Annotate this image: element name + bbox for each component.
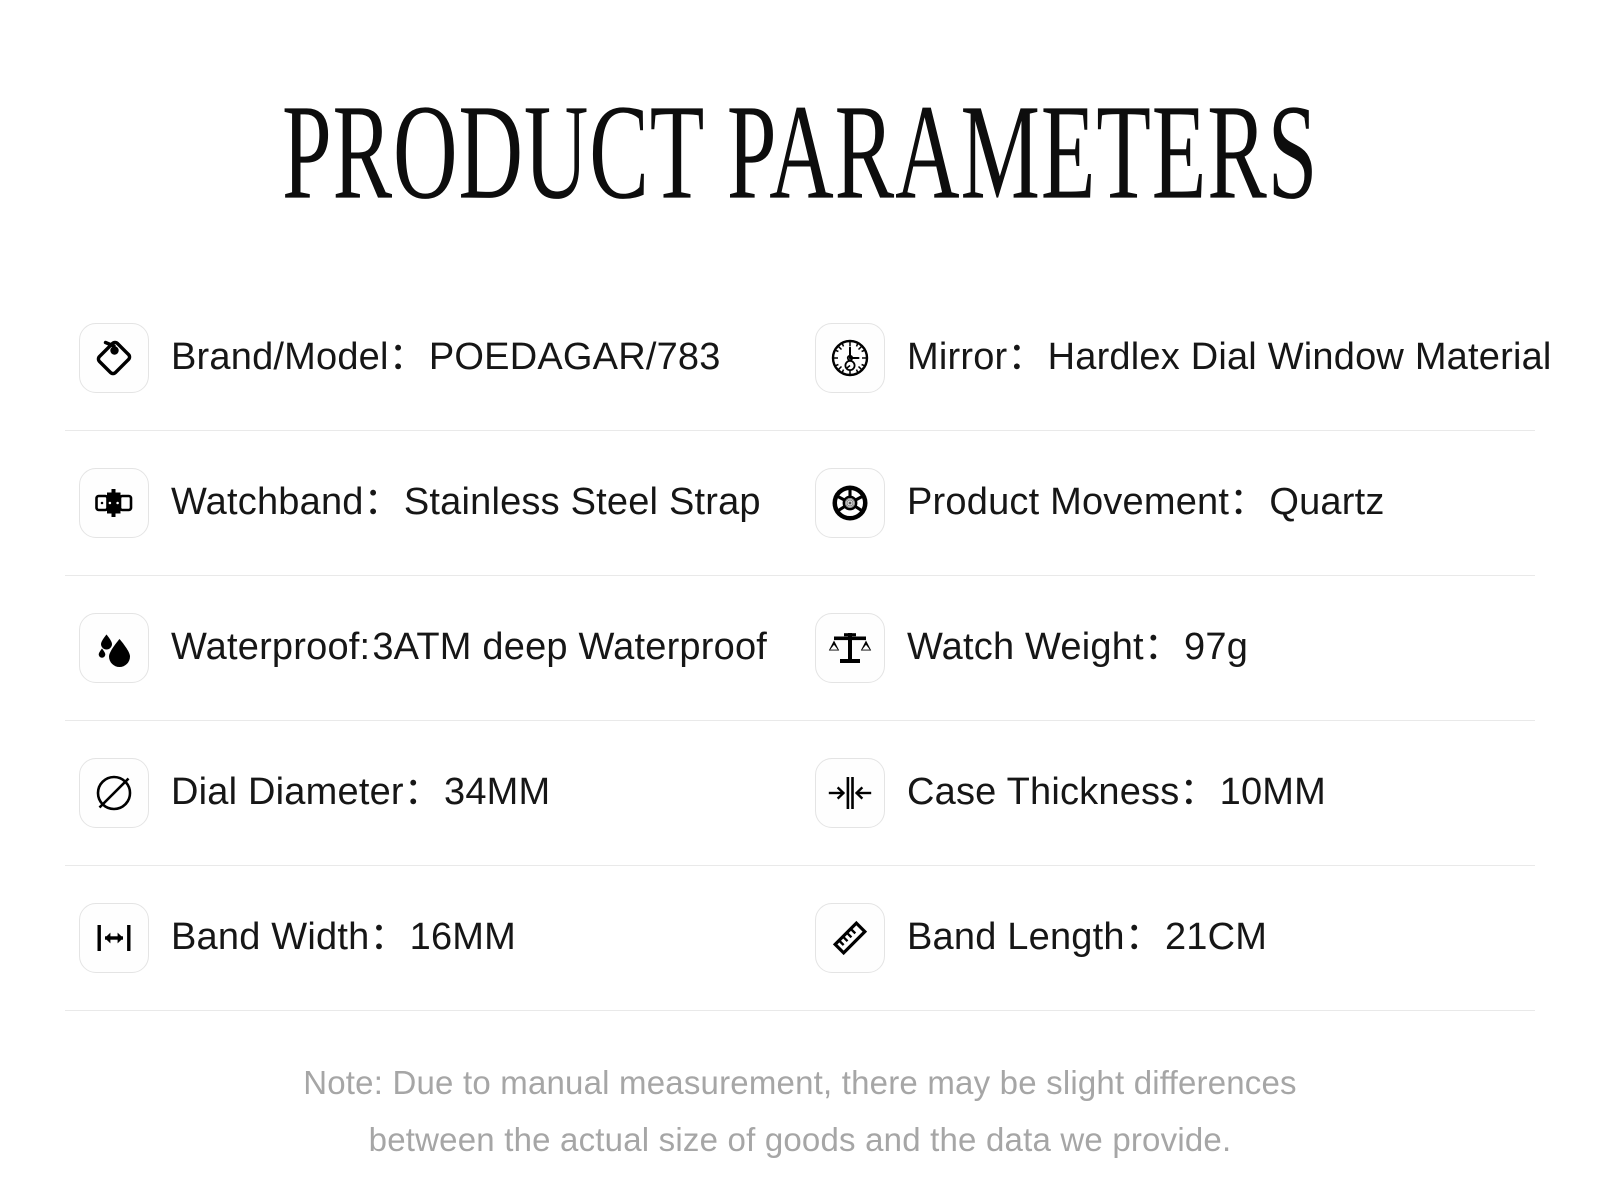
spec-item-dial-diameter: Dial Diameter：34MM [65,721,805,865]
spec-label: Band Length： [907,916,1163,958]
spec-value: Stainless Steel Strap [404,481,761,523]
spec-label: Product Movement： [907,481,1267,523]
table-row: Waterproof:3ATM deep Waterproof W [65,576,1535,721]
spec-label-value: Product Movement：Quartz [907,481,1385,525]
spec-value: Hardlex Dial Window Material [1048,336,1552,378]
watch-dial-clock-icon [815,323,885,393]
spec-label: Watch Weight： [907,626,1182,668]
spec-label-value: Band Width：16MM [171,916,516,960]
table-row: Brand/Model：POEDAGAR/783 [65,286,1535,431]
spec-value: 10MM [1220,771,1326,813]
spec-label-value: Brand/Model：POEDAGAR/783 [171,336,721,380]
spec-label-value: Mirror：Hardlex Dial Window Material [907,336,1552,380]
spec-item-band-width: Band Width：16MM [65,866,805,1010]
spec-value: 97g [1184,626,1248,668]
page-title: PRODUCT PARAMETERS [282,84,1318,220]
price-tag-icon [79,323,149,393]
specifications-table: Brand/Model：POEDAGAR/783 [65,180,1535,1011]
spec-value: Quartz [1269,481,1384,523]
spec-label-value: Watch Weight：97g [907,626,1248,670]
measurement-note: Note: Due to manual measurement, there m… [200,1011,1400,1169]
table-row: Band Width：16MM [65,866,1535,1011]
spec-value: POEDAGAR/783 [429,336,721,378]
spec-item-movement: Product Movement：Quartz [805,431,1535,575]
product-parameters-page: PRODUCT PARAMETERS Brand/Model：POEDAGAR/… [0,0,1600,1200]
spec-value: 34MM [444,771,550,813]
spec-label: Watchband： [171,481,402,523]
spec-label-value: Case Thickness：10MM [907,771,1326,815]
water-drops-icon [79,613,149,683]
table-row: Dial Diameter：34MM Case Th [65,721,1535,866]
spec-value: 16MM [410,916,516,958]
spec-value: 3ATM deep Waterproof [372,626,767,668]
spec-item-case-thickness: Case Thickness：10MM [805,721,1535,865]
spec-label-value: Dial Diameter：34MM [171,771,550,815]
spec-item-watchband: Watchband：Stainless Steel Strap [65,431,805,575]
spec-label-value: Band Length：21CM [907,916,1267,960]
balance-scale-icon [815,613,885,683]
spec-label: Waterproof: [171,626,370,668]
note-line-2: between the actual size of goods and the… [200,1112,1400,1169]
spec-label-value: Watchband：Stainless Steel Strap [171,481,761,525]
spec-item-watch-weight: Watch Weight：97g [805,576,1535,720]
spec-value: 21CM [1165,916,1267,958]
gear-movement-icon [815,468,885,538]
diameter-symbol-icon [79,758,149,828]
watchband-buckle-icon [79,468,149,538]
spec-label: Dial Diameter： [171,771,442,813]
spec-label: Case Thickness： [907,771,1218,813]
spec-label: Mirror： [907,336,1046,378]
spec-label: Band Width： [171,916,408,958]
page-title-container: PRODUCT PARAMETERS [0,0,1600,180]
width-arrow-icon [79,903,149,973]
spec-item-brand-model: Brand/Model：POEDAGAR/783 [65,286,805,430]
thickness-arrows-icon [815,758,885,828]
ruler-icon [815,903,885,973]
note-line-1: Note: Due to manual measurement, there m… [200,1055,1400,1112]
table-row: Watchband：Stainless Steel Strap [65,431,1535,576]
spec-item-mirror: Mirror：Hardlex Dial Window Material [805,286,1535,430]
spec-item-waterproof: Waterproof:3ATM deep Waterproof [65,576,805,720]
spec-label: Brand/Model： [171,336,427,378]
spec-label-value: Waterproof:3ATM deep Waterproof [171,626,778,670]
spec-item-band-length: Band Length：21CM [805,866,1535,1010]
